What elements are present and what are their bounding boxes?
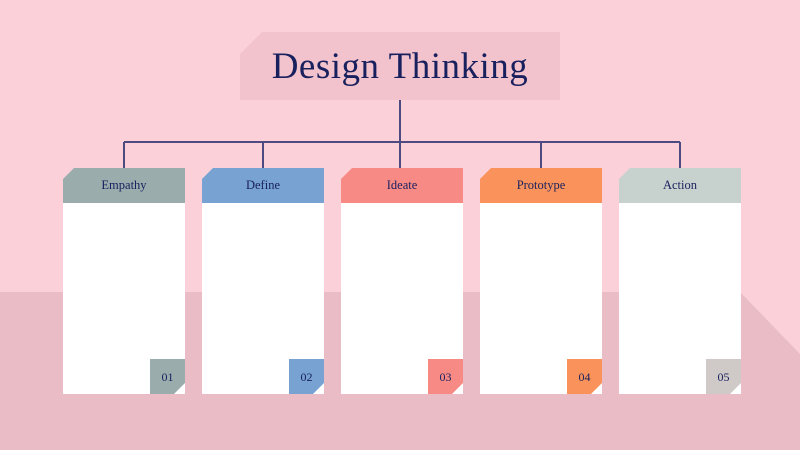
card-header-label: Empathy: [101, 179, 146, 192]
card-header-empathy[interactable]: Empathy: [63, 168, 185, 203]
page-title: Design Thinking: [272, 48, 529, 85]
card-define[interactable]: Define 02: [202, 168, 324, 394]
card-header-label: Action: [663, 179, 697, 192]
card-ideate[interactable]: Ideate 03: [341, 168, 463, 394]
card-header-label: Ideate: [387, 179, 418, 192]
card-header-prototype[interactable]: Prototype: [480, 168, 602, 203]
card-badge-action: 05: [706, 359, 741, 394]
card-badge-number: 03: [440, 371, 452, 383]
card-body-empathy: 01: [63, 203, 185, 394]
card-badge-number: 05: [718, 371, 730, 383]
card-action[interactable]: Action 05: [619, 168, 741, 394]
title-banner: Design Thinking: [240, 32, 560, 100]
card-prototype[interactable]: Prototype 04: [480, 168, 602, 394]
card-badge-empathy: 01: [150, 359, 185, 394]
card-header-ideate[interactable]: Ideate: [341, 168, 463, 203]
card-body-define: 02: [202, 203, 324, 394]
card-badge-ideate: 03: [428, 359, 463, 394]
card-body-ideate: 03: [341, 203, 463, 394]
card-badge-number: 04: [579, 371, 591, 383]
card-row: Empathy 01 Define 02 Ideate: [0, 168, 800, 394]
card-badge-prototype: 04: [567, 359, 602, 394]
card-header-action[interactable]: Action: [619, 168, 741, 203]
card-badge-number: 01: [162, 371, 174, 383]
card-badge-define: 02: [289, 359, 324, 394]
card-header-label: Prototype: [517, 179, 566, 192]
card-badge-number: 02: [301, 371, 313, 383]
card-empathy[interactable]: Empathy 01: [63, 168, 185, 394]
card-body-action: 05: [619, 203, 741, 394]
card-header-label: Define: [246, 179, 280, 192]
slide-canvas: Design Thinking Empathy 01 Define: [0, 0, 800, 450]
card-body-prototype: 04: [480, 203, 602, 394]
card-header-define[interactable]: Define: [202, 168, 324, 203]
